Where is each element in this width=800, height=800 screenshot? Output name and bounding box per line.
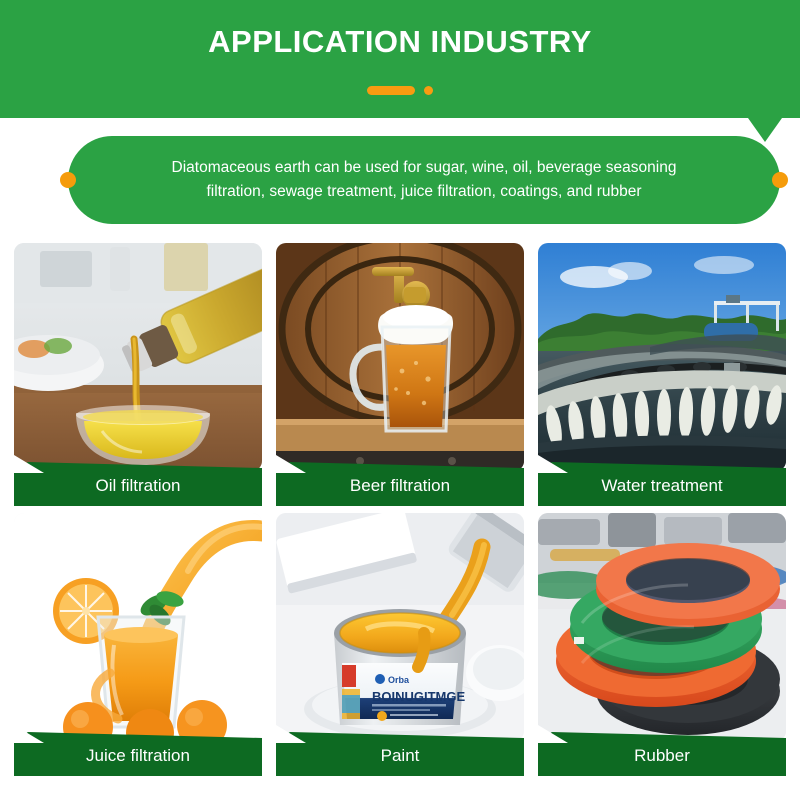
title-underline-decoration xyxy=(0,84,800,96)
svg-text:Orba: Orba xyxy=(388,675,410,685)
industry-card-beer-filtration[interactable]: Beer filtration xyxy=(276,243,524,510)
industry-card-grid: Oil filtration xyxy=(14,243,786,780)
paint-can-brand-text: BOINUGITMGE xyxy=(372,689,465,704)
industry-card-juice-filtration[interactable]: Juice filtration xyxy=(14,513,262,780)
banner-dot-right-icon xyxy=(772,172,788,188)
card-label-bar: Paint xyxy=(276,732,524,776)
rubber-rings-stack-photo xyxy=(538,513,786,741)
industry-card-paint[interactable]: Orba BOINUGITMGE Paint xyxy=(276,513,524,780)
card-label-text: Oil filtration xyxy=(95,476,180,496)
banner-dot-left-icon xyxy=(60,172,76,188)
description-banner: Diatomaceous earth can be used for sugar… xyxy=(68,136,780,224)
industry-card-oil-filtration[interactable]: Oil filtration xyxy=(14,243,262,510)
banner-description-text: Diatomaceous earth can be used for sugar… xyxy=(104,156,744,204)
card-label-text: Paint xyxy=(381,746,420,766)
card-label-bar: Beer filtration xyxy=(276,462,524,506)
card-label-bar: Rubber xyxy=(538,732,786,776)
industry-card-rubber[interactable]: Rubber xyxy=(538,513,786,780)
decoration-dash-icon xyxy=(367,86,415,95)
orange-juice-pouring-photo xyxy=(14,513,262,741)
header-triangle-notch-icon xyxy=(748,118,782,142)
card-label-bar: Water treatment xyxy=(538,462,786,506)
decoration-dot-icon xyxy=(424,86,433,95)
card-label-text: Water treatment xyxy=(601,476,722,496)
industry-card-water-treatment[interactable]: Water treatment xyxy=(538,243,786,510)
yellow-paint-can-photo: Orba BOINUGITMGE xyxy=(276,513,524,741)
application-industry-page: APPLICATION INDUSTRY Diatomaceous earth … xyxy=(0,0,800,800)
water-treatment-clarifier-photo xyxy=(538,243,786,471)
card-label-text: Beer filtration xyxy=(350,476,450,496)
oil-pouring-into-glass-bowl-photo xyxy=(14,243,262,471)
beer-mug-with-barrel-photo xyxy=(276,243,524,471)
card-label-bar: Juice filtration xyxy=(14,732,262,776)
card-label-text: Juice filtration xyxy=(86,746,190,766)
card-label-text: Rubber xyxy=(634,746,690,766)
page-header: APPLICATION INDUSTRY xyxy=(0,0,800,118)
page-title: APPLICATION INDUSTRY xyxy=(0,24,800,60)
card-label-bar: Oil filtration xyxy=(14,462,262,506)
